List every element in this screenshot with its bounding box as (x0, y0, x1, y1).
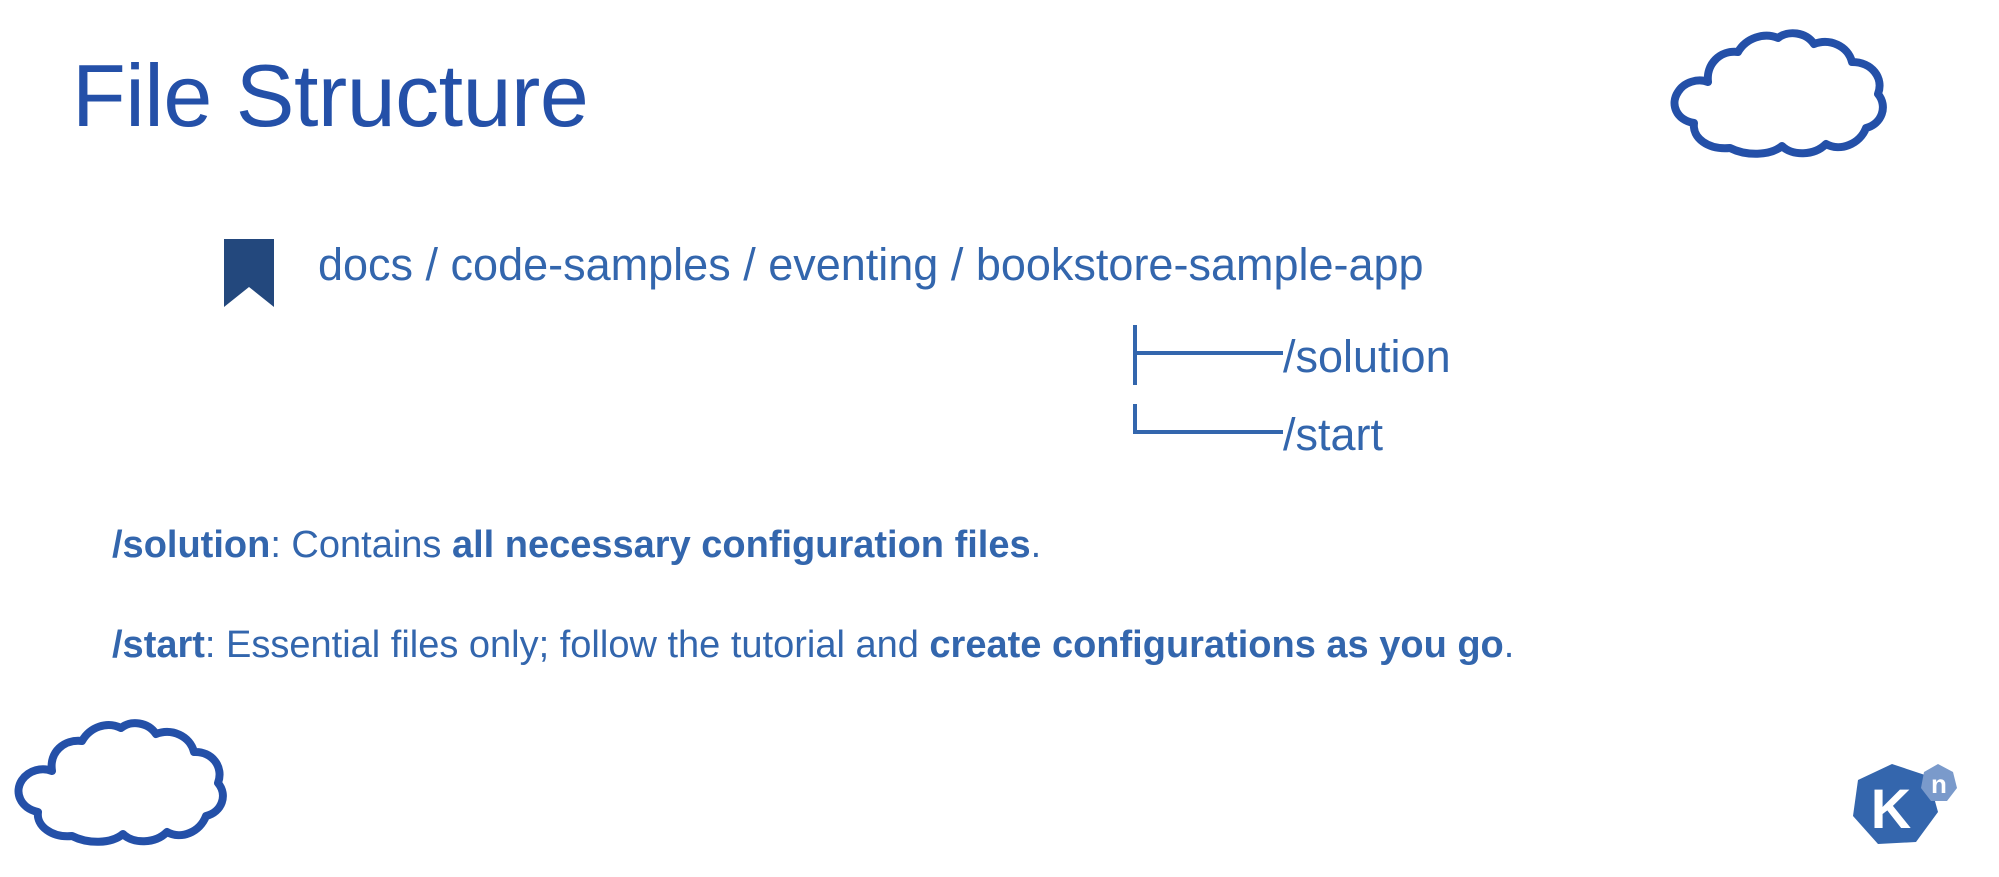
file-path-row: docs / code-samples / eventing / booksto… (222, 235, 1424, 309)
text-run-0: /solution (112, 524, 270, 566)
file-path-text: docs / code-samples / eventing / booksto… (318, 235, 1424, 295)
tree-branch-vertical-icon (1133, 325, 1137, 385)
text-run-3: . (1504, 624, 1515, 666)
cloud-icon (1668, 28, 1890, 160)
text-run-2: create configurations as you go (929, 624, 1503, 666)
text-run-3: . (1031, 524, 1042, 566)
text-run-1: : Contains (270, 524, 452, 566)
text-run-2: all necessary configuration files (452, 524, 1031, 566)
knative-logo-letter: K (1871, 777, 1911, 840)
tree-item-label: /solution (1283, 318, 1451, 396)
knative-logo: K n (1846, 750, 1964, 860)
bullet-solution: /solution: Contains all necessary config… (112, 522, 1041, 570)
tree-branch-horizontal-icon (1133, 351, 1283, 355)
knative-logo-badge-letter: n (1931, 769, 1947, 799)
text-run-0: /start (112, 624, 205, 666)
text-run-1: : Essential files only; follow the tutor… (205, 624, 930, 666)
bullet-start: /start: Essential files only; follow the… (112, 622, 1514, 670)
cloud-icon (12, 718, 230, 848)
tree-branch-horizontal-icon (1133, 430, 1283, 434)
tree-item-label: /start (1283, 396, 1383, 474)
page-title: File Structure (72, 48, 588, 145)
bookmark-icon (222, 237, 276, 309)
